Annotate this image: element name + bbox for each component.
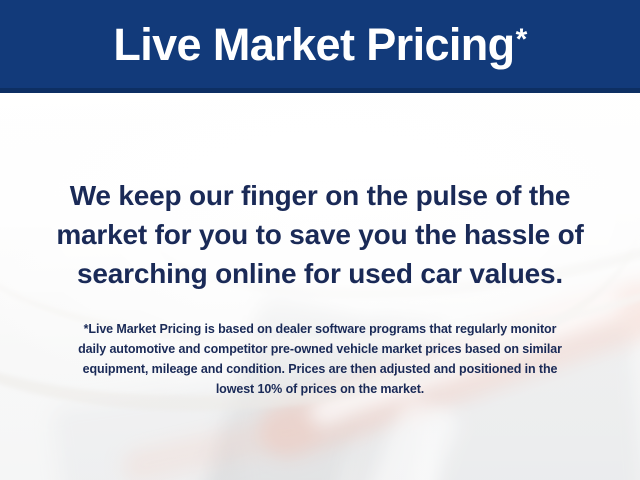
disclaimer-line: *Live Market Pricing is based on dealer … — [0, 319, 640, 339]
page-title-text: Live Market Pricing — [113, 22, 514, 67]
headline-line: searching online for used car values. — [0, 254, 640, 293]
page-title: Live Market Pricing* — [0, 0, 640, 88]
header-bottom-rule — [0, 88, 640, 93]
page-title-asterisk: * — [516, 25, 527, 55]
headline: We keep our finger on the pulse of the m… — [0, 176, 640, 293]
headline-line: market for you to save you the hassle of — [0, 215, 640, 254]
disclaimer-line: equipment, mileage and condition. Prices… — [0, 359, 640, 379]
headline-line: We keep our finger on the pulse of the — [0, 176, 640, 215]
live-market-pricing-banner: Live Market Pricing* We keep our finger … — [0, 0, 640, 480]
disclaimer: *Live Market Pricing is based on dealer … — [0, 319, 640, 399]
disclaimer-line: lowest 10% of prices on the market. — [0, 379, 640, 399]
disclaimer-line: daily automotive and competitor pre-owne… — [0, 339, 640, 359]
